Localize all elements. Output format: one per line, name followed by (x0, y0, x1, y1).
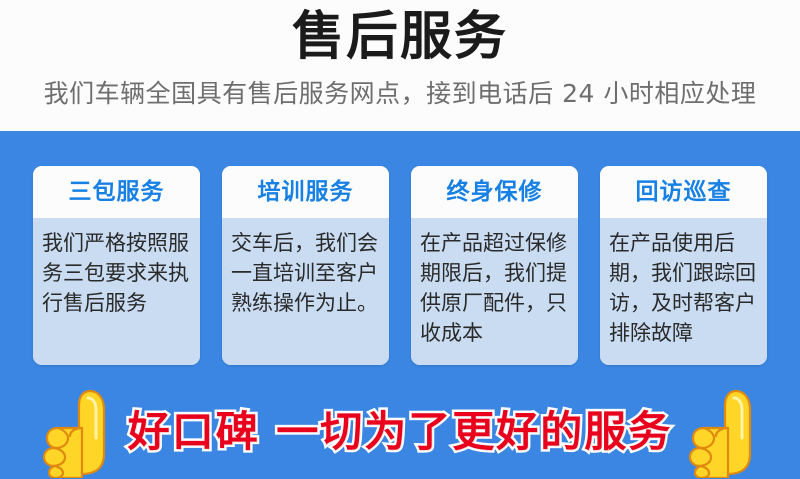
slogan-text: 好口碑 一切为了更好的服务 (114, 406, 687, 458)
service-card-followup-inspection[interactable]: 回访巡查 在产品使用后期，我们跟踪回访，及时帮客户排除故障 (600, 166, 767, 365)
slogan-banner: 好口碑 一切为了更好的服务 (0, 385, 800, 479)
service-card-title: 终身保修 (447, 179, 543, 205)
service-card-body: 交车后，我们会一直培训至客户熟练操作为止。 (222, 218, 389, 365)
service-card-training[interactable]: 培训服务 交车后，我们会一直培训至客户熟练操作为止。 (222, 166, 389, 365)
promo-page: 售后服务 我们车辆全国具有售后服务网点，接到电话后 24 小时相应处理 三包服务… (0, 0, 800, 479)
service-card-header: 三包服务 (33, 166, 200, 218)
service-card-body: 在产品使用后期，我们跟踪回访，及时帮客户排除故障 (600, 218, 767, 365)
service-card-header: 培训服务 (222, 166, 389, 218)
service-card-body: 在产品超过保修期限后，我们提供原厂配件，只收成本 (411, 218, 578, 365)
service-card-header: 终身保修 (411, 166, 578, 218)
service-card-sanbao[interactable]: 三包服务 我们严格按照服务三包要求来执行售后服务 (33, 166, 200, 365)
page-title: 售后服务 (0, 0, 800, 68)
service-card-text: 我们严格按照服务三包要求来执行售后服务 (42, 228, 191, 318)
service-card-title: 回访巡查 (636, 179, 732, 205)
service-card-lifetime-warranty[interactable]: 终身保修 在产品超过保修期限后，我们提供原厂配件，只收成本 (411, 166, 578, 365)
page-subtitle: 我们车辆全国具有售后服务网点，接到电话后 24 小时相应处理 (0, 68, 800, 110)
service-card-text: 在产品使用后期，我们跟踪回访，及时帮客户排除故障 (609, 228, 758, 348)
service-card-text: 交车后，我们会一直培训至客户熟练操作为止。 (231, 228, 380, 318)
service-card-title: 三包服务 (69, 179, 165, 205)
service-card-title: 培训服务 (258, 179, 354, 205)
service-card-body: 我们严格按照服务三包要求来执行售后服务 (33, 218, 200, 365)
service-cards-row: 三包服务 我们严格按照服务三包要求来执行售后服务 培训服务 交车后，我们会一直培… (33, 166, 767, 365)
thumbs-up-icon (686, 386, 760, 478)
service-card-text: 在产品超过保修期限后，我们提供原厂配件，只收成本 (420, 228, 569, 348)
blue-content-panel: 三包服务 我们严格按照服务三包要求来执行售后服务 培训服务 交车后，我们会一直培… (0, 131, 800, 479)
thumbs-up-icon (40, 386, 114, 478)
service-card-header: 回访巡查 (600, 166, 767, 218)
page-header: 售后服务 我们车辆全国具有售后服务网点，接到电话后 24 小时相应处理 (0, 0, 800, 131)
